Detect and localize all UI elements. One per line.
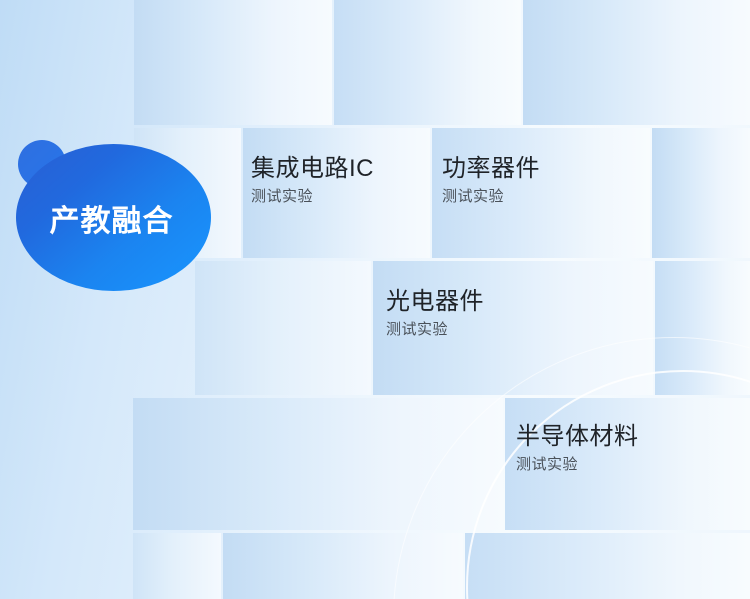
card-title: 集成电路IC xyxy=(251,155,374,183)
card-subtitle: 测试实验 xyxy=(516,456,639,474)
card-title: 光电器件 xyxy=(386,288,484,316)
tile-r5-c3 xyxy=(465,533,750,599)
poster-canvas: 集成电路IC 测试实验 功率器件 测试实验 光电器件 测试实验 半导体材料 测试… xyxy=(0,0,750,599)
card-optoelectronic-device[interactable]: 光电器件 测试实验 xyxy=(386,288,484,339)
card-power-device[interactable]: 功率器件 测试实验 xyxy=(442,155,540,206)
badge-label: 产教融合 xyxy=(14,144,209,291)
tile-r3-c1 xyxy=(195,261,371,395)
card-integrated-circuit[interactable]: 集成电路IC 测试实验 xyxy=(251,155,374,206)
tile-r4-c1 xyxy=(133,398,503,530)
card-title: 功率器件 xyxy=(442,155,540,183)
tile-r5-c1 xyxy=(133,533,221,599)
badge-产教融合[interactable]: 产教融合 xyxy=(14,136,204,291)
tile-r3-c3 xyxy=(655,261,750,395)
tile-r2-c4 xyxy=(652,128,750,258)
card-subtitle: 测试实验 xyxy=(442,188,540,206)
tile-r1-c1 xyxy=(134,0,332,125)
card-subtitle: 测试实验 xyxy=(251,188,374,206)
card-title: 半导体材料 xyxy=(516,423,639,451)
tile-r1-c3 xyxy=(523,0,750,125)
card-semiconductor-material[interactable]: 半导体材料 测试实验 xyxy=(516,423,639,474)
tile-r5-c2 xyxy=(223,533,463,599)
card-subtitle: 测试实验 xyxy=(386,321,484,339)
tile-r1-c2 xyxy=(334,0,521,125)
